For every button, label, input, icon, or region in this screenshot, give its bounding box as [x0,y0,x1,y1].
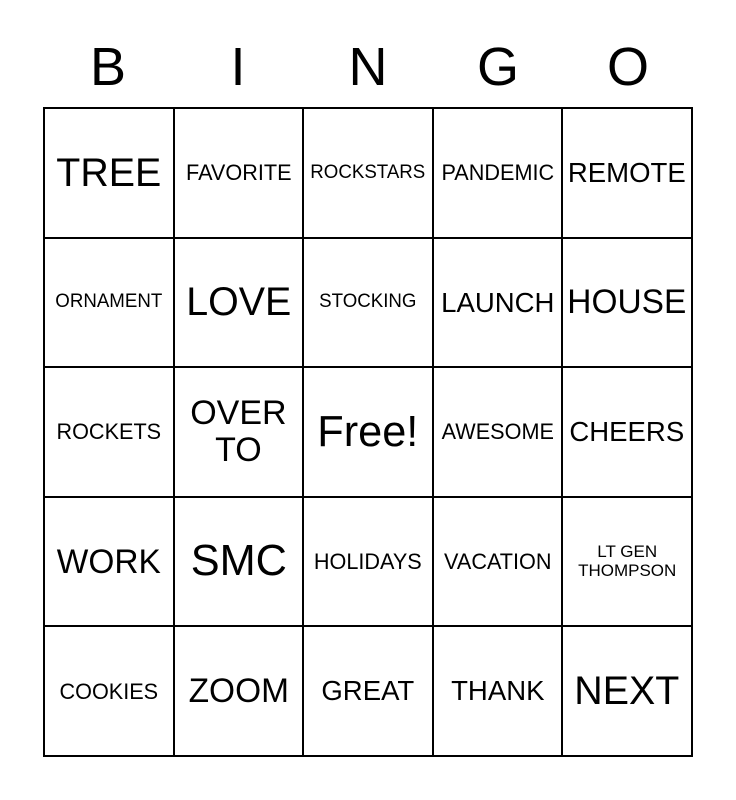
bingo-cell-label: CHEERS [567,417,687,447]
bingo-cell-label: HOLIDAYS [308,550,428,573]
bingo-cell[interactable]: ROCKSTARS [304,109,434,239]
bingo-cell[interactable]: NEXT [563,627,693,757]
bingo-cell-label: ZOOM [179,673,299,709]
header-letter-o: O [563,40,693,94]
bingo-cell[interactable]: HOUSE [563,239,693,369]
bingo-cell[interactable]: ROCKETS [45,368,175,498]
header-letter-b: B [43,40,173,94]
bingo-cell[interactable]: WORK [45,498,175,628]
bingo-cell-label: TREE [49,152,169,194]
bingo-cell-label: AWESOME [438,420,558,443]
bingo-card: B I N G O TREE FAVORITE ROCKSTARS PANDEM… [0,0,736,800]
free-space-label: Free! [308,409,428,456]
bingo-cell-label: THANK [438,676,558,706]
bingo-cell-label: OVER TO [178,395,300,468]
bingo-cell[interactable]: GREAT [304,627,434,757]
bingo-cell-label: PANDEMIC [438,161,558,184]
bingo-cell[interactable]: VACATION [434,498,564,628]
bingo-cell[interactable]: AWESOME [434,368,564,498]
bingo-cell[interactable]: ZOOM [175,627,305,757]
bingo-cell[interactable]: REMOTE [563,109,693,239]
bingo-cell[interactable]: SMC [175,498,305,628]
bingo-cell[interactable]: LT GEN THOMPSON [563,498,693,628]
header-letter-n: N [303,40,433,94]
bingo-cell-label: GREAT [308,676,428,706]
bingo-cell[interactable]: HOLIDAYS [304,498,434,628]
bingo-cell-label: ROCKETS [49,420,169,443]
header-letter-i: I [173,40,303,94]
bingo-header: B I N G O [43,32,693,102]
bingo-cell-label: HOUSE [567,284,687,320]
bingo-cell[interactable]: FAVORITE [175,109,305,239]
bingo-cell[interactable]: LAUNCH [434,239,564,369]
bingo-cell[interactable]: LOVE [175,239,305,369]
bingo-cell[interactable]: STOCKING [304,239,434,369]
bingo-cell[interactable]: COOKIES [45,627,175,757]
bingo-cell-label: STOCKING [308,292,428,312]
bingo-cell-label: COOKIES [49,680,169,703]
bingo-cell-label: SMC [179,538,299,585]
bingo-cell[interactable]: ORNAMENT [45,239,175,369]
bingo-cell-label: VACATION [438,550,558,573]
bingo-cell-label: LOVE [179,281,299,323]
bingo-cell-label: LT GEN THOMPSON [566,543,688,580]
bingo-cell-label: FAVORITE [179,161,299,184]
header-letter-g: G [433,40,563,94]
bingo-cell-label: ROCKSTARS [308,163,428,183]
bingo-cell[interactable]: THANK [434,627,564,757]
bingo-cell[interactable]: PANDEMIC [434,109,564,239]
bingo-cell-label: LAUNCH [438,288,558,318]
bingo-grid: TREE FAVORITE ROCKSTARS PANDEMIC REMOTE … [43,107,693,757]
bingo-cell-label: ORNAMENT [49,292,169,312]
bingo-cell[interactable]: OVER TO [175,368,305,498]
bingo-cell-label: REMOTE [567,158,687,188]
bingo-cell-label: NEXT [567,670,687,712]
bingo-cell[interactable]: TREE [45,109,175,239]
bingo-cell[interactable]: CHEERS [563,368,693,498]
bingo-cell-label: WORK [49,544,169,580]
bingo-cell-free[interactable]: Free! [304,368,434,498]
